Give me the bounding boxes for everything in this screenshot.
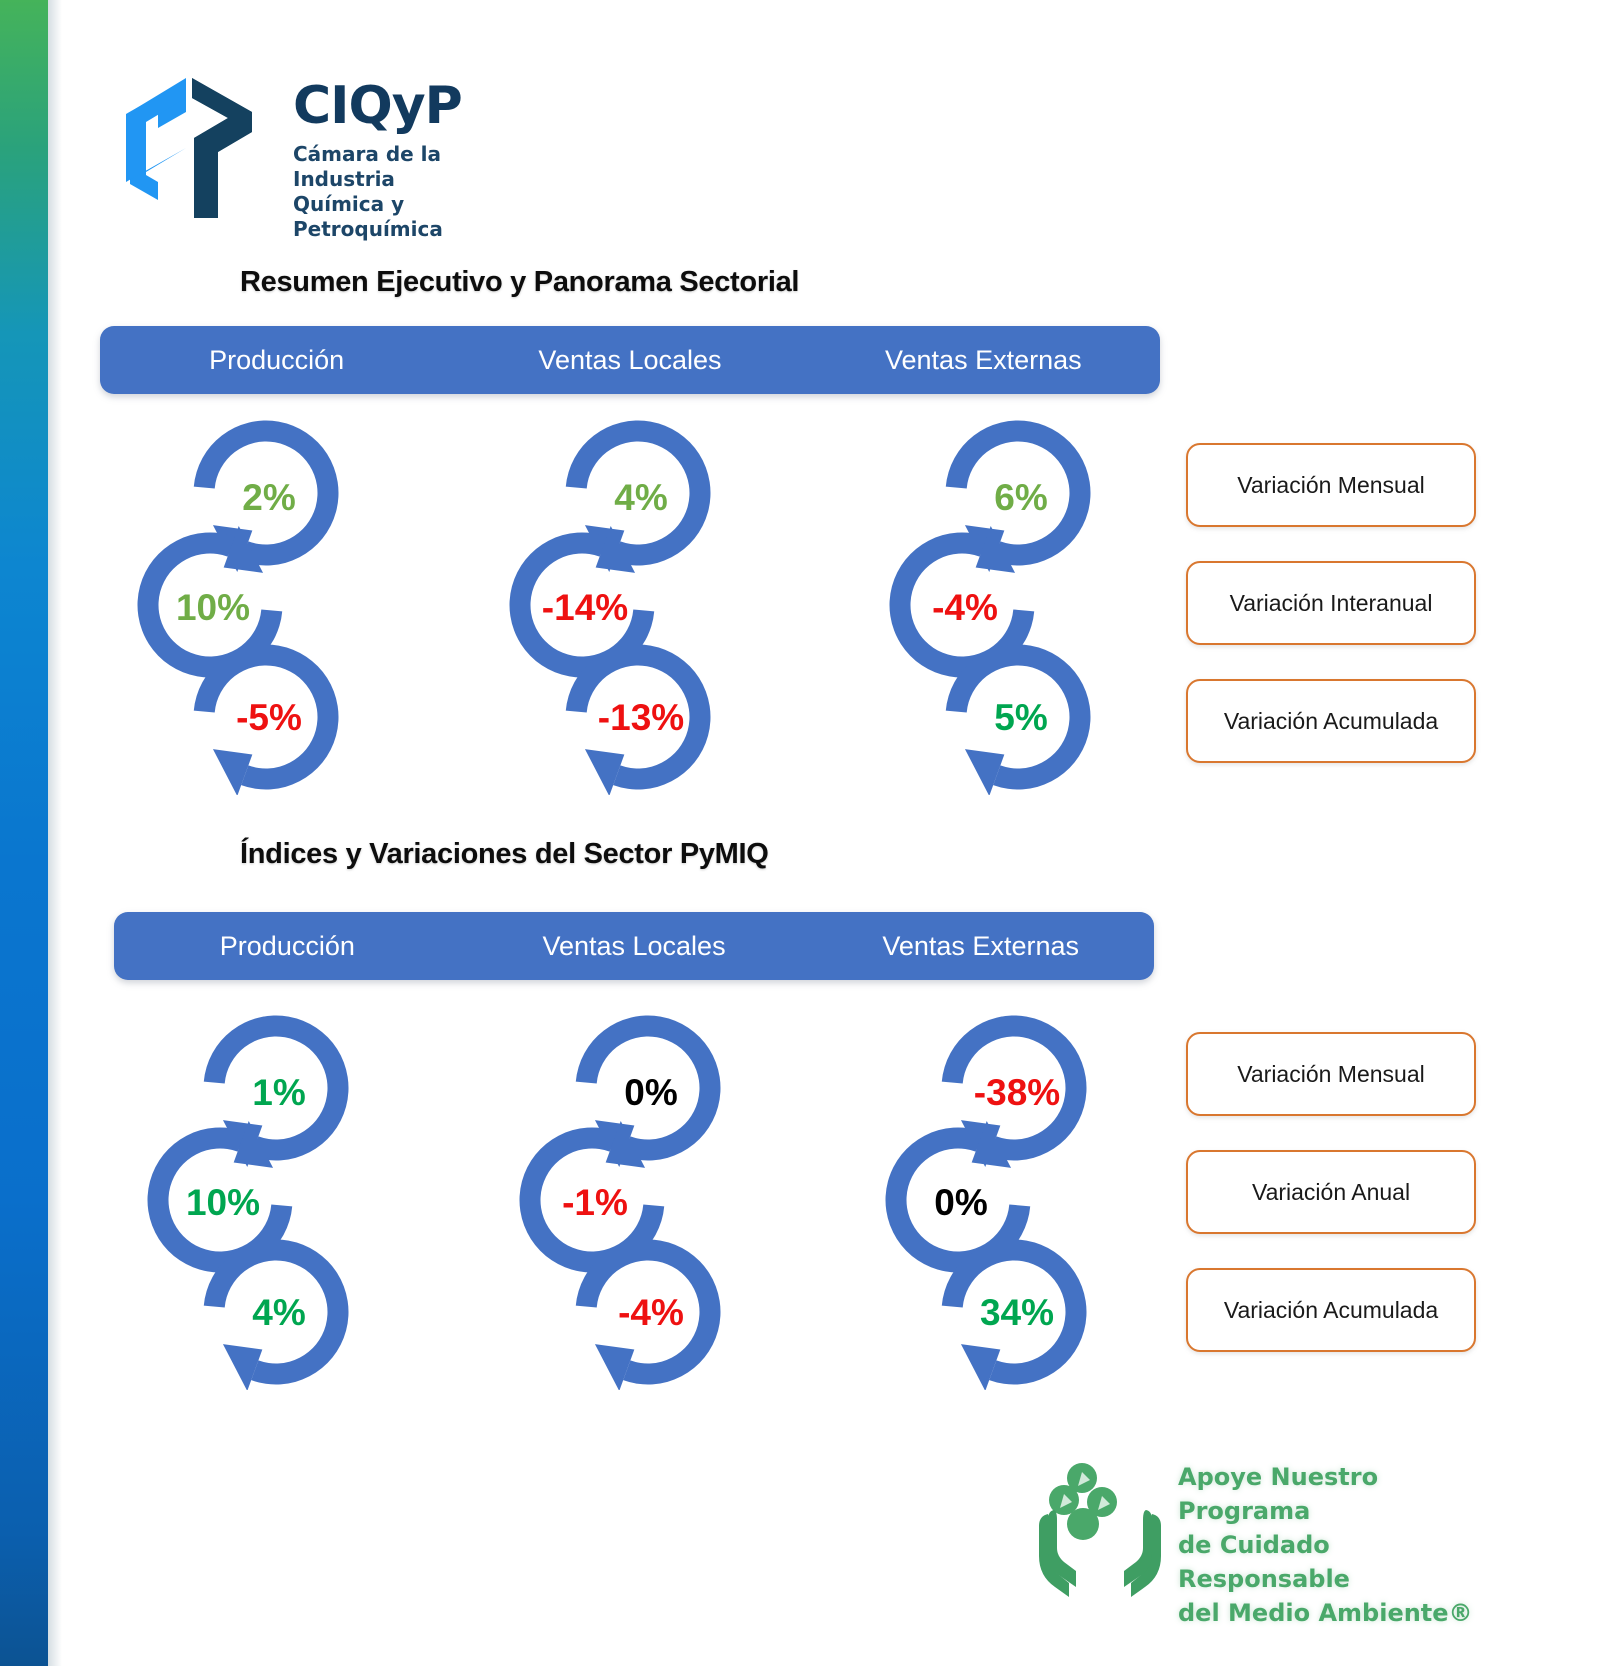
section-2-produccion-monthly: 1% [194,1072,364,1114]
section-1-produccion-interannual: 10% [128,587,298,629]
legend-label: Variación Mensual [1237,472,1425,499]
section-1-ventas-externas-monthly: 6% [936,477,1106,519]
ciqyp-logo-title: CIQyP [293,80,548,132]
section-1-column-header-ventas-locales: Ventas Locales [453,345,806,376]
section-1-title: Resumen Ejecutivo y Panorama Sectorial [240,266,799,299]
legend-label: Variación Interanual [1230,590,1433,617]
section-2-column-header-produccion: Producción [114,931,461,962]
section-1-ventas-externas-accumulated: 5% [936,697,1106,739]
section-1-column-header-produccion: Producción [100,345,453,376]
section-2-legend-monthly: Variación Mensual [1186,1032,1476,1116]
section-2-produccion-annual: 10% [138,1182,308,1224]
section-2-ventas-externas-monthly: -38% [932,1072,1102,1114]
section-1-legend-monthly: Variación Mensual [1186,443,1476,527]
section-2-ventas-locales-annual: -1% [510,1182,680,1224]
section-2-cycle-ventas-locales: 0% -1% -4% [500,1010,760,1390]
section-2-cycle-produccion: 1% 10% 4% [128,1010,388,1390]
ciqyp-logo: CIQyP Cámara de la Industria Química y P… [108,72,548,222]
ciqyp-logo-subtitle-line2: Química y Petroquímica [293,192,548,242]
section-1-cycle-ventas-externas: 6% -4% 5% [870,415,1130,795]
footer-line-1: Apoye Nuestro Programa [1178,1460,1500,1528]
responsible-care-logo: Apoye Nuestro Programa de Cuidado Respon… [1030,1448,1500,1623]
section-2-cycle-ventas-externas: -38% 0% 34% [866,1010,1126,1390]
section-1-header-bar: Producción Ventas Locales Ventas Externa… [100,326,1160,394]
footer-line-3: del Medio Ambiente® [1178,1596,1500,1630]
infographic-page: CIQyP Cámara de la Industria Química y P… [0,0,1600,1666]
footer-line-2: de Cuidado Responsable [1178,1528,1500,1596]
ciqyp-logo-mark [108,72,268,222]
section-1-produccion-monthly: 2% [184,477,354,519]
legend-label: Variación Anual [1252,1179,1410,1206]
hands-with-leaves-icon [1030,1448,1170,1598]
section-2-produccion-accumulated: 4% [194,1292,364,1334]
section-1-produccion-accumulated: -5% [184,697,354,739]
section-2-column-header-ventas-externas: Ventas Externas [807,931,1154,962]
section-2-ventas-locales-monthly: 0% [566,1072,736,1114]
section-1-cycle-ventas-locales: 4% -14% -13% [490,415,750,795]
section-1-cycle-produccion: 2% 10% -5% [118,415,378,795]
legend-label: Variación Acumulada [1224,708,1438,735]
section-2-ventas-externas-accumulated: 34% [932,1292,1102,1334]
legend-label: Variación Acumulada [1224,1297,1438,1324]
section-1-legend-accumulated: Variación Acumulada [1186,679,1476,763]
section-1-column-header-ventas-externas: Ventas Externas [807,345,1160,376]
rail-shadow [48,0,62,1666]
left-gradient-rail [0,0,48,1666]
ciqyp-logo-wordmark: CIQyP Cámara de la Industria Química y P… [293,80,548,242]
section-2-column-header-ventas-locales: Ventas Locales [461,931,808,962]
ciqyp-logo-subtitle-line1: Cámara de la Industria [293,142,548,192]
section-2-ventas-externas-annual: 0% [876,1182,1046,1224]
section-1-legend-interannual: Variación Interanual [1186,561,1476,645]
section-2-legend-annual: Variación Anual [1186,1150,1476,1234]
responsible-care-text: Apoye Nuestro Programa de Cuidado Respon… [1178,1460,1500,1630]
section-2-legend-accumulated: Variación Acumulada [1186,1268,1476,1352]
section-2-header-bar: Producción Ventas Locales Ventas Externa… [114,912,1154,980]
section-2-ventas-locales-accumulated: -4% [566,1292,736,1334]
section-1-ventas-locales-interannual: -14% [500,587,670,629]
section-1-ventas-locales-monthly: 4% [556,477,726,519]
section-1-ventas-externas-interannual: -4% [880,587,1050,629]
section-2-title: Índices y Variaciones del Sector PyMIQ [240,838,769,871]
legend-label: Variación Mensual [1237,1061,1425,1088]
section-1-ventas-locales-accumulated: -13% [556,697,726,739]
